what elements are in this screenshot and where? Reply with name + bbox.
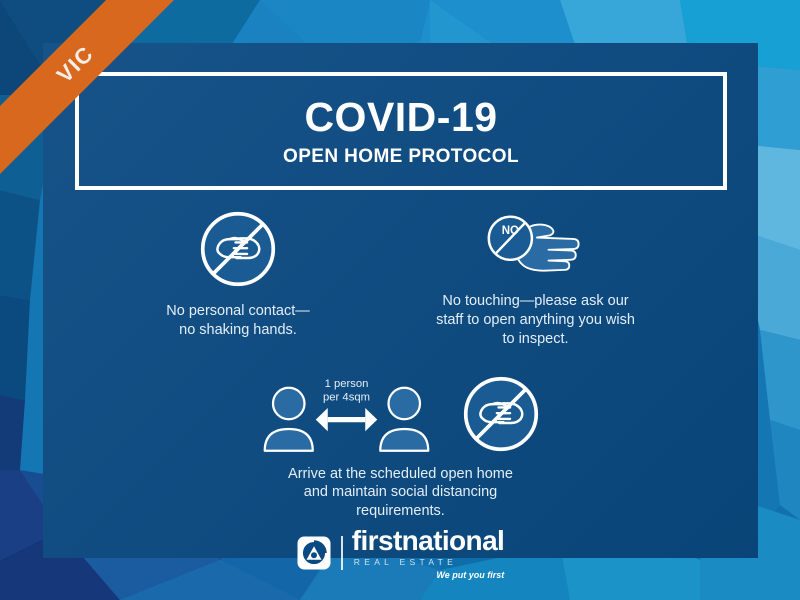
protocol-caption: No touching—please ask our staff to open… [433,292,638,349]
capacity-label-line1: 1 person [325,378,369,390]
logo-text: firstnational REAL ESTATE We put you fir… [352,527,504,581]
page-title: COVID-19 [304,97,497,138]
protocol-list: No personal contact—no shaking hands. NO [43,200,758,521]
region-ribbon-band: VIC [0,0,195,191]
protocol-item-no-handshake: No personal contact—no shaking hands. [163,208,313,340]
protocol-row-bottom: 1 person per 4sqm [43,373,758,522]
logo-name: firstnational [352,527,504,555]
first-national-logo-mark [296,535,332,571]
icon-container: 1 person per 4sqm [259,373,542,455]
logo-descriptor: REAL ESTATE [354,558,504,567]
page-subtitle: OPEN HOME PROTOCOL [283,147,519,166]
capacity-label-line2: per 4sqm [323,391,370,403]
no-touching-hand-icon: NO [478,208,593,280]
logo-tagline: We put you first [352,571,504,580]
icon-container [197,208,279,290]
protocol-item-no-touching: NO No touching—please ask our staff to o… [433,208,638,349]
protocol-caption: No personal contact—no shaking hands. [163,302,313,340]
protocol-row-top: No personal contact—no shaking hands. NO [43,200,758,349]
no-label: NO [502,225,519,237]
region-ribbon: VIC [0,0,200,200]
icon-container: NO [478,208,593,280]
poster-canvas: COVID-19 OPEN HOME PROTOCOL [0,0,800,600]
logo-divider [341,536,343,570]
social-distancing-people-icon: 1 person per 4sqm [259,375,434,453]
region-ribbon-label: VIC [45,41,100,96]
no-handshake-icon [197,208,279,290]
brand-logo: firstnational REAL ESTATE We put you fir… [0,527,800,581]
protocol-caption: Arrive at the scheduled open home and ma… [276,465,526,522]
no-handshake-icon [460,373,542,455]
